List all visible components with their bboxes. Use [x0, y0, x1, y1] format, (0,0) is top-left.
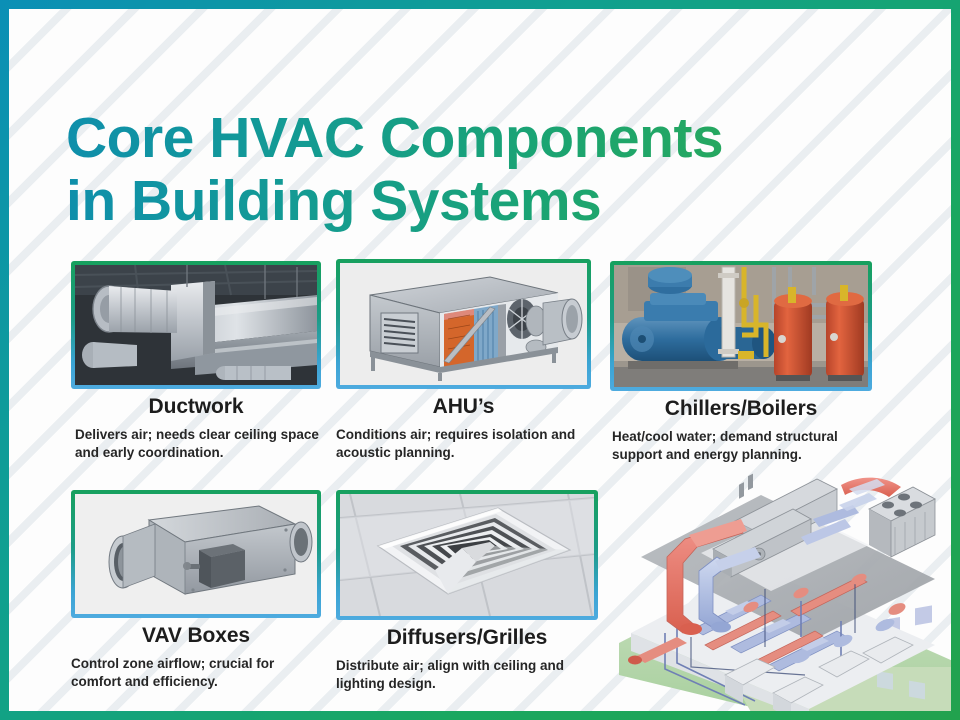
card-ductwork: Ductwork Delivers air; needs clear ceili…: [71, 261, 321, 463]
page-title: Core HVAC Components in Building Systems: [66, 107, 896, 232]
card-description-ductwork: Delivers air; needs clear ceiling space …: [71, 426, 321, 463]
infographic-poster: Core HVAC Components in Building Systems: [0, 0, 960, 720]
air-handling-unit-diagram: [340, 263, 587, 385]
building-hvac-isometric-diagram: [605, 461, 951, 711]
title-line-2: in Building Systems: [66, 170, 896, 233]
vav-box-diagram: [75, 494, 317, 614]
ahu-image-frame: [336, 259, 591, 389]
card-ahus: AHU’s Conditions air; requires isolation…: [336, 259, 591, 463]
vav-image-frame: [71, 490, 321, 618]
card-description-chillers-boilers: Heat/cool water; demand structural suppo…: [610, 428, 872, 465]
ceiling-diffuser-photo: [340, 494, 594, 616]
ductwork-photo: [75, 265, 317, 385]
card-title-chillers-boilers: Chillers/Boilers: [610, 397, 872, 421]
title-line-1: Core HVAC Components: [66, 107, 896, 170]
card-vav-boxes: VAV Boxes Control zone airflow; crucial …: [71, 490, 321, 692]
card-chillers-boilers: Chillers/Boilers Heat/cool water; demand…: [610, 261, 872, 465]
card-title-vav-boxes: VAV Boxes: [71, 624, 321, 648]
card-title-ahus: AHU’s: [336, 395, 591, 419]
diffusers-image-frame: [336, 490, 598, 620]
poster-canvas: Core HVAC Components in Building Systems: [9, 9, 951, 711]
card-title-diffusers-grilles: Diffusers/Grilles: [336, 626, 598, 650]
card-title-ductwork: Ductwork: [71, 395, 321, 419]
card-description-diffusers-grilles: Distribute air; align with ceiling and l…: [336, 657, 598, 694]
card-description-ahus: Conditions air; requires isolation and a…: [336, 426, 591, 463]
card-diffusers-grilles: Diffusers/Grilles Distribute air; align …: [336, 490, 598, 694]
chiller-plant-photo: [614, 265, 868, 387]
chillers-boilers-image-frame: [610, 261, 872, 391]
ductwork-image-frame: [71, 261, 321, 389]
card-description-vav-boxes: Control zone airflow; crucial for comfor…: [71, 655, 321, 692]
